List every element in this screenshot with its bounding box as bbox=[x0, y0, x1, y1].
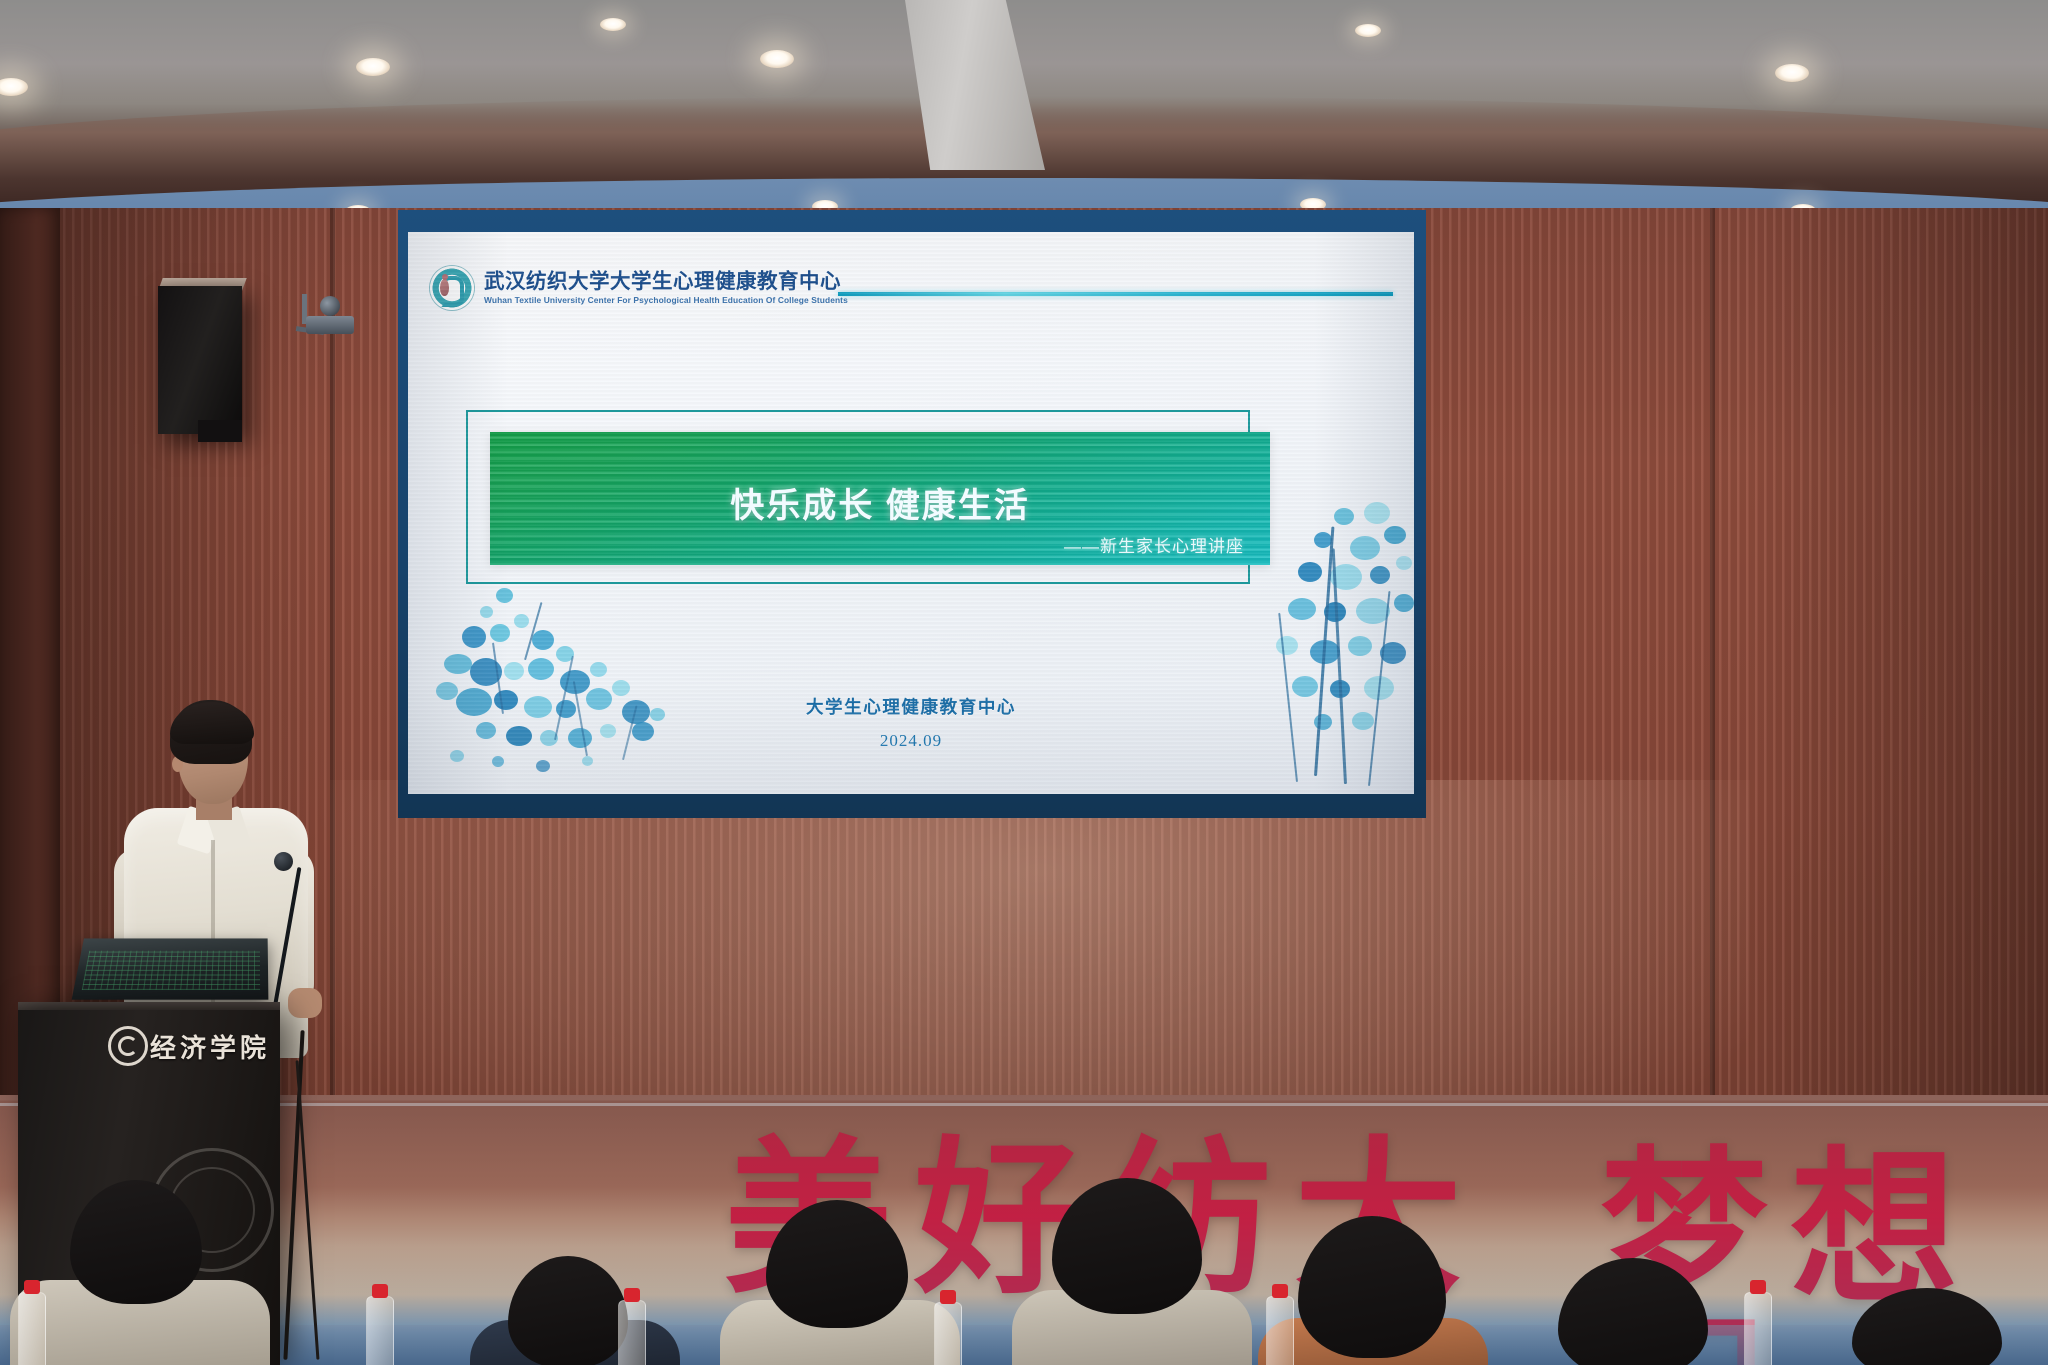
podium-label: 经济学院 bbox=[150, 1028, 270, 1065]
presenter-laptop bbox=[72, 938, 269, 999]
slide-header-rule bbox=[838, 292, 1393, 296]
downlight-icon bbox=[356, 58, 390, 76]
water-bottle bbox=[1744, 1292, 1772, 1365]
downlight-icon bbox=[600, 18, 626, 31]
water-bottle bbox=[934, 1302, 962, 1365]
water-bottle bbox=[18, 1292, 46, 1365]
water-bottle bbox=[366, 1296, 394, 1365]
slide-footer-date: 2024.09 bbox=[408, 731, 1414, 751]
ink-blossom-left bbox=[436, 584, 756, 794]
microphone-icon bbox=[274, 852, 293, 871]
downlight-icon bbox=[760, 50, 794, 68]
slide-header-title-en: Wuhan Textile University Center For Psyc… bbox=[484, 296, 848, 304]
slide-footer: 大学生心理健康教育中心 2024.09 bbox=[408, 694, 1414, 751]
slide-header-title-cn: 武汉纺织大学大学生心理健康教育中心 bbox=[484, 272, 848, 293]
downlight-icon bbox=[1355, 24, 1381, 37]
lecture-hall-photo: 武汉纺织大学大学生心理健康教育中心 Wuhan Textile Universi… bbox=[0, 0, 2048, 1365]
water-bottle bbox=[618, 1300, 646, 1365]
projection-screen: 武汉纺织大学大学生心理健康教育中心 Wuhan Textile Universi… bbox=[408, 232, 1414, 794]
slide-subtitle: ——新生家长心理讲座 bbox=[1064, 532, 1244, 557]
ceiling-camera-icon bbox=[300, 294, 362, 340]
slide-title: 快乐成长 健康生活 bbox=[490, 478, 1270, 527]
water-bottle bbox=[1266, 1296, 1294, 1365]
slide-footer-org: 大学生心理健康教育中心 bbox=[408, 694, 1414, 719]
wtu-psychology-center-logo-icon bbox=[430, 266, 474, 310]
downlight-icon bbox=[1775, 64, 1809, 82]
wall-loudspeaker bbox=[158, 286, 242, 434]
title-gradient-band: 快乐成长 健康生活 ——新生家长心理讲座 bbox=[490, 432, 1270, 565]
slide-header: 武汉纺织大学大学生心理健康教育中心 Wuhan Textile Universi… bbox=[430, 266, 848, 310]
loudspeaker-bracket bbox=[198, 420, 242, 442]
school-of-economics-emblem-icon bbox=[108, 1026, 148, 1066]
